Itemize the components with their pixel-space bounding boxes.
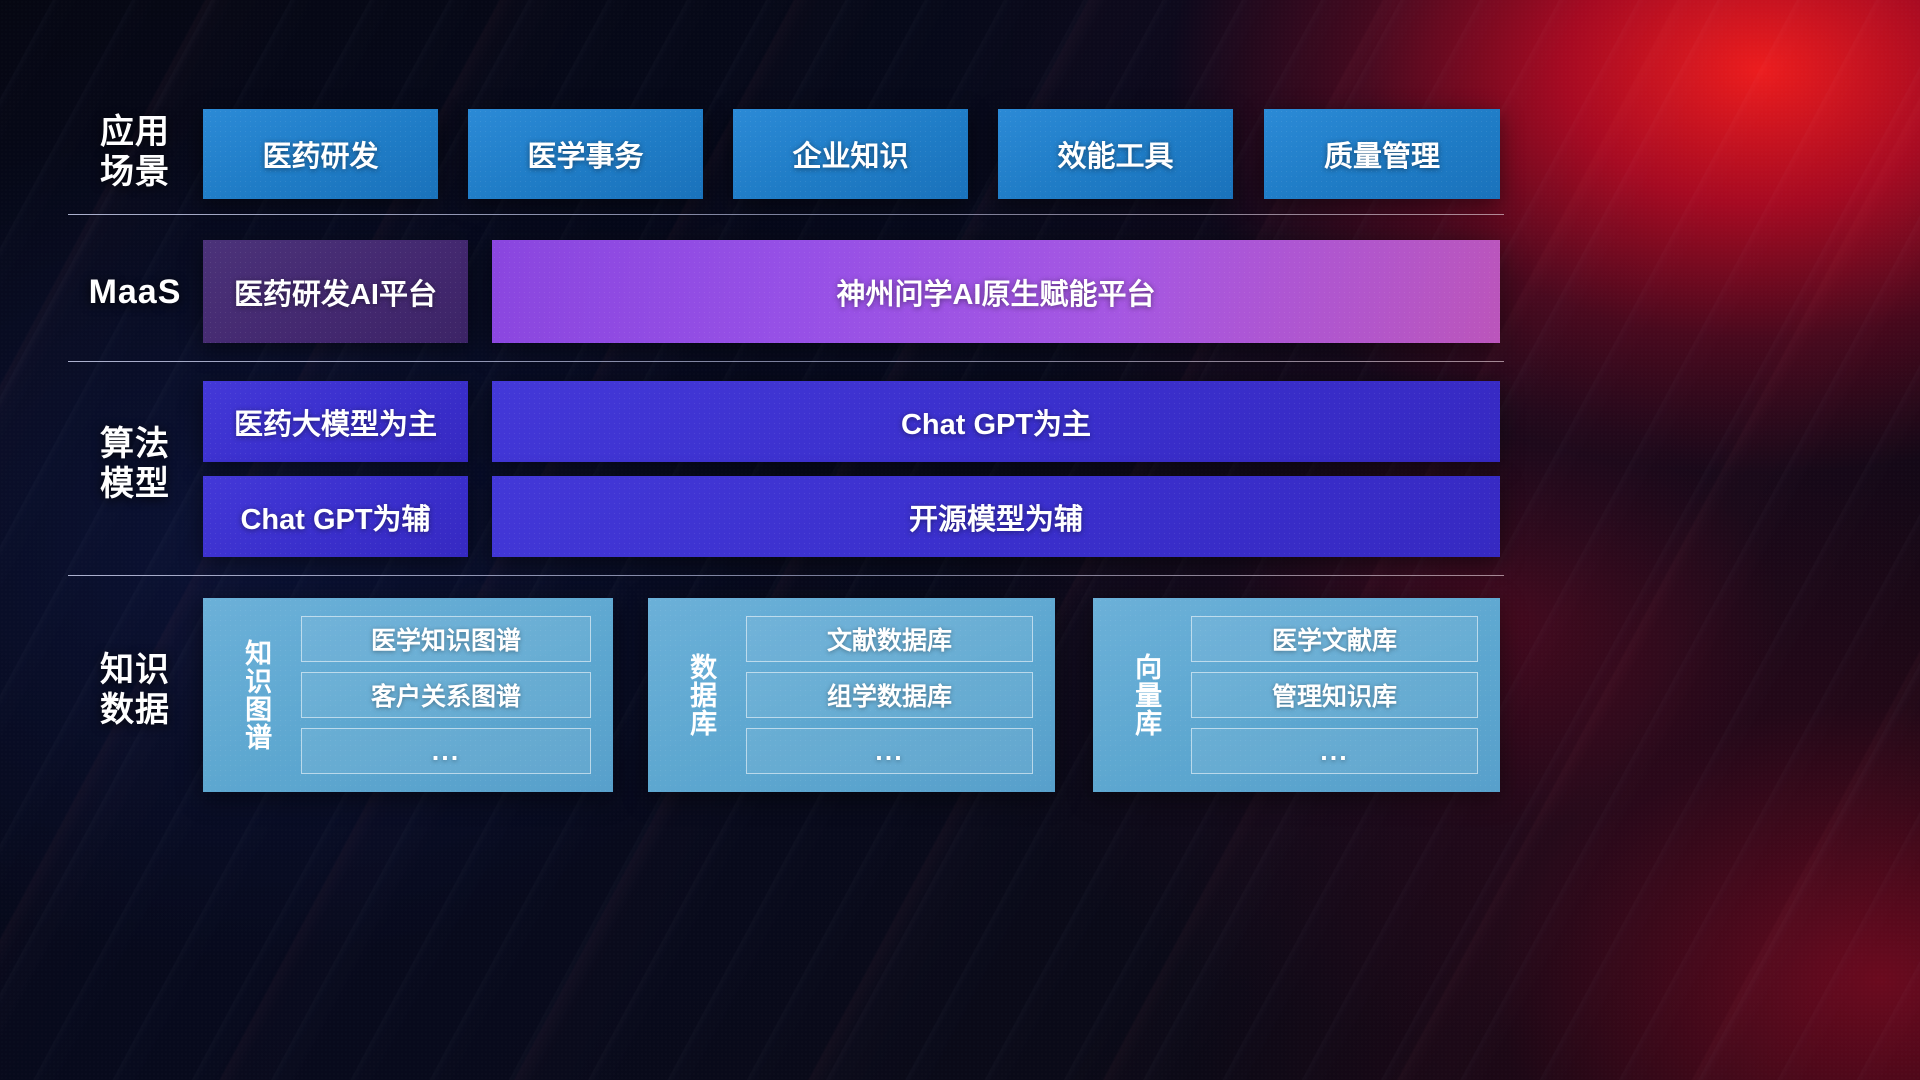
- knowledge-item[interactable]: 医学文献库: [1191, 616, 1478, 662]
- maas-box-medicine-ai-platform[interactable]: 医药研发AI平台: [203, 240, 468, 343]
- algo-box-label: Chat GPT为主: [901, 401, 1091, 443]
- maas-box-shenzhou-wenxue-platform[interactable]: 神州问学AI原生赋能平台: [492, 240, 1500, 343]
- knowledge-item[interactable]: 组学数据库: [746, 672, 1033, 718]
- knowledge-item[interactable]: 医学知识图谱: [301, 616, 591, 662]
- knowledge-group-label: 向量库: [1115, 598, 1177, 792]
- knowledge-item[interactable]: 客户关系图谱: [301, 672, 591, 718]
- knowledge-group-vector[interactable]: 向量库 医学文献库 管理知识库 ...: [1093, 598, 1500, 792]
- app-box-label: 医学事务: [527, 133, 643, 175]
- knowledge-item-list: 医学文献库 管理知识库 ...: [1177, 598, 1500, 792]
- maas-box-label: 神州问学AI原生赋能平台: [836, 271, 1155, 313]
- app-box-medical-affairs[interactable]: 医学事务: [468, 109, 703, 199]
- row-label-line: 算法: [70, 424, 200, 464]
- app-box-efficiency-tools[interactable]: 效能工具: [998, 109, 1233, 199]
- row-label-line: 模型: [70, 464, 200, 504]
- row-label-line: 场景: [70, 152, 200, 192]
- app-box-label: 医药研发: [262, 133, 378, 175]
- knowledge-item[interactable]: 管理知识库: [1191, 672, 1478, 718]
- algo-box-label: Chat GPT为辅: [240, 496, 430, 538]
- app-box-label: 企业知识: [792, 133, 908, 175]
- knowledge-item-list: 医学知识图谱 客户关系图谱 ...: [287, 598, 613, 792]
- row-label-algorithm-model: 算法 模型: [70, 424, 200, 504]
- diagram-canvas: 应用 场景 医药研发 医学事务 企业知识 效能工具 质量管理 MaaS 医药研发…: [0, 0, 1920, 1080]
- knowledge-item-more[interactable]: ...: [301, 728, 591, 774]
- divider-2: [68, 361, 1504, 362]
- app-box-medicine-rd[interactable]: 医药研发: [203, 109, 438, 199]
- algo-box-chatgpt-primary[interactable]: Chat GPT为主: [492, 381, 1500, 462]
- algo-box-label: 开源模型为辅: [909, 496, 1083, 538]
- app-box-quality-management[interactable]: 质量管理: [1264, 109, 1500, 199]
- knowledge-group-label: 数据库: [670, 598, 732, 792]
- maas-box-label: 医药研发AI平台: [234, 271, 437, 313]
- knowledge-group-graph[interactable]: 知识图谱 医学知识图谱 客户关系图谱 ...: [203, 598, 613, 792]
- app-box-label: 效能工具: [1057, 133, 1173, 175]
- row-label-line: 数据: [70, 690, 200, 730]
- algo-box-chatgpt-secondary[interactable]: Chat GPT为辅: [203, 476, 468, 557]
- knowledge-group-label: 知识图谱: [225, 598, 287, 792]
- row-label-line: 知识: [70, 650, 200, 690]
- knowledge-item[interactable]: 文献数据库: [746, 616, 1033, 662]
- row-label-maas: MaaS: [70, 272, 200, 312]
- app-box-label: 质量管理: [1324, 133, 1440, 175]
- algo-box-medicine-llm-primary[interactable]: 医药大模型为主: [203, 381, 468, 462]
- row-label-knowledge-data: 知识 数据: [70, 650, 200, 730]
- app-box-enterprise-knowledge[interactable]: 企业知识: [733, 109, 968, 199]
- algo-box-label: 医药大模型为主: [234, 401, 437, 443]
- row-label-line: MaaS: [70, 272, 200, 312]
- divider-1: [68, 214, 1504, 215]
- knowledge-item-more[interactable]: ...: [1191, 728, 1478, 774]
- knowledge-group-database[interactable]: 数据库 文献数据库 组学数据库 ...: [648, 598, 1055, 792]
- algo-box-opensource-secondary[interactable]: 开源模型为辅: [492, 476, 1500, 557]
- knowledge-item-list: 文献数据库 组学数据库 ...: [732, 598, 1055, 792]
- knowledge-item-more[interactable]: ...: [746, 728, 1033, 774]
- row-label-application-scenarios: 应用 场景: [70, 112, 200, 192]
- divider-3: [68, 575, 1504, 576]
- row-label-line: 应用: [70, 112, 200, 152]
